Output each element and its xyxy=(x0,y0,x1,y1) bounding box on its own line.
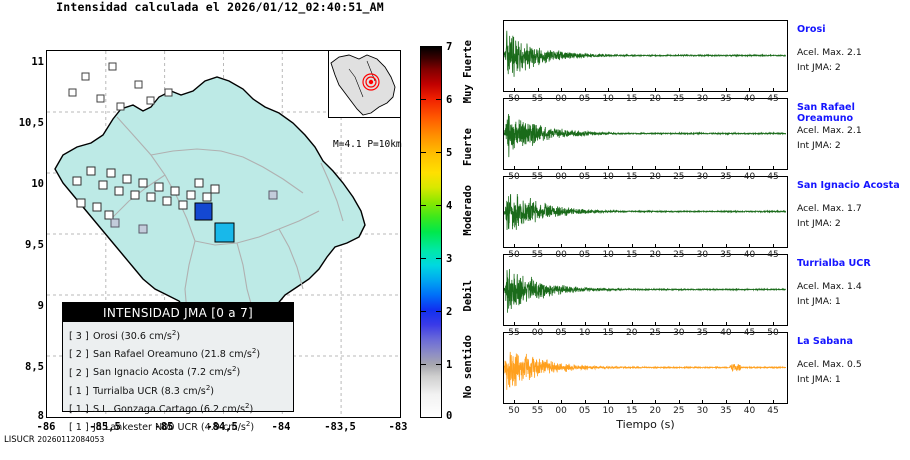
station-accel-la-sabana: Acel. Max. 0.5 xyxy=(797,359,862,370)
station-accel-orosi: Acel. Max. 2.1 xyxy=(797,47,862,58)
time-tick-mark xyxy=(561,322,562,326)
legend-row: [ 2 ]San Rafael Oreamuno (21.8 cm/s2) xyxy=(69,344,293,362)
station-accel-san-rafael-oreamuno: Acel. Max. 2.1 xyxy=(797,125,862,136)
time-tick-label: 00 xyxy=(551,250,571,260)
time-tick-label: 20 xyxy=(645,250,665,260)
time-tick-mark xyxy=(561,166,562,170)
time-tick-mark xyxy=(514,400,515,404)
legend-row: [ 3 ]Orosi (30.6 cm/s2) xyxy=(69,326,293,344)
time-tick-mark xyxy=(632,400,633,404)
time-tick-label: 45 xyxy=(763,406,783,416)
time-tick-label: 35 xyxy=(716,250,736,260)
time-tick-mark xyxy=(632,322,633,326)
time-axis-label: Tiempo (s) xyxy=(503,418,788,431)
time-tick-label: 10 xyxy=(598,172,618,182)
time-tick-mark xyxy=(538,322,539,326)
time-tick-label: 10 xyxy=(598,406,618,416)
time-tick-label: 30 xyxy=(692,94,712,104)
time-tick-label: 10 xyxy=(575,328,595,338)
time-tick-mark xyxy=(726,166,727,170)
time-tick-mark xyxy=(608,400,609,404)
time-tick-label: 45 xyxy=(763,172,783,182)
time-tick-mark xyxy=(538,88,539,92)
time-tick-mark xyxy=(749,88,750,92)
time-tick-label: 25 xyxy=(669,406,689,416)
legend-accel: 30.6 xyxy=(125,331,146,342)
time-tick-label: 00 xyxy=(528,328,548,338)
time-tick-label: 20 xyxy=(645,172,665,182)
legend-station: San Ignacio Acosta xyxy=(93,368,184,379)
time-tick-mark xyxy=(514,88,515,92)
time-tick-mark xyxy=(702,322,703,326)
time-tick-label: 30 xyxy=(692,406,712,416)
time-tick-label: 00 xyxy=(551,406,571,416)
waveform-trace xyxy=(504,177,786,246)
time-tick-mark xyxy=(632,244,633,248)
time-tick-mark xyxy=(702,166,703,170)
time-tick-label: 05 xyxy=(575,172,595,182)
time-tick-label: 50 xyxy=(763,328,783,338)
station-jma-la-sabana: Int JMA: 1 xyxy=(797,374,841,385)
time-tick-mark xyxy=(608,244,609,248)
time-ticks-panel-3: 505500051015202530354045 xyxy=(503,248,788,262)
time-tick-label: 35 xyxy=(692,328,712,338)
station-accel-turrialba-ucr: Acel. Max. 1.4 xyxy=(797,281,862,292)
colorbar-tick-5: 5 xyxy=(446,147,462,159)
footer-agency: LISUCR xyxy=(4,435,35,445)
time-tick-label: 25 xyxy=(645,328,665,338)
seismogram-panel-turrialba-ucr[interactable] xyxy=(503,254,788,326)
time-tick-mark xyxy=(679,322,680,326)
map-ytick-11: 11 xyxy=(6,56,44,68)
legend-station: Turrialba UCR xyxy=(93,386,158,397)
time-tick-mark xyxy=(538,166,539,170)
time-tick-mark xyxy=(632,88,633,92)
map-ytick-10: 10 xyxy=(6,178,44,190)
legend-row: [ 1 ]Jn Lankester N00 UCR (4.9 cm/s2) xyxy=(69,417,293,435)
legend-level: [ 1 ] xyxy=(69,421,93,435)
waveform-trace xyxy=(504,333,786,402)
time-tick-mark xyxy=(655,166,656,170)
colorbar-tick-2: 2 xyxy=(446,306,462,318)
time-tick-mark xyxy=(561,88,562,92)
page-title: Intensidad calculada el 2026/01/12_02:40… xyxy=(0,0,440,14)
time-tick-label: 05 xyxy=(551,328,571,338)
station-marker-strong xyxy=(195,203,212,220)
time-tick-mark xyxy=(749,400,750,404)
time-ticks-panel-5: 505500051015202530354045 xyxy=(503,404,788,418)
time-tick-label: 05 xyxy=(575,406,595,416)
legend-station: S.L. Gonzaga.Cartago xyxy=(93,404,197,415)
time-tick-label: 35 xyxy=(716,406,736,416)
colorbar-tick-6: 6 xyxy=(446,94,462,106)
legend-accel: 8.3 xyxy=(165,386,180,397)
time-tick-mark xyxy=(773,166,774,170)
time-tick-label: 55 xyxy=(528,94,548,104)
time-tick-mark xyxy=(561,244,562,248)
map-ytick-105: 10,5 xyxy=(6,117,44,129)
legend-level: [ 3 ] xyxy=(69,330,93,344)
time-tick-mark xyxy=(702,88,703,92)
time-tick-mark xyxy=(726,244,727,248)
colorbar-label-debil: Debil xyxy=(462,280,474,312)
inset-locator-map[interactable] xyxy=(328,50,401,118)
time-tick-label: 00 xyxy=(551,94,571,104)
seismogram-panel-san-ignacio-acosta[interactable] xyxy=(503,176,788,248)
time-tick-label: 05 xyxy=(575,250,595,260)
time-tick-mark xyxy=(514,166,515,170)
magnitude-depth-label: M=4.1 P=10km xyxy=(333,139,402,150)
seismogram-panel-san-rafael-oreamuno[interactable] xyxy=(503,98,788,170)
colorbar-tick-0: 0 xyxy=(446,410,462,422)
legend-level: [ 2 ] xyxy=(69,348,93,362)
time-tick-mark xyxy=(702,244,703,248)
station-jma-san-rafael-oreamuno: Int JMA: 2 xyxy=(797,140,841,151)
map-ytick-85: 8,5 xyxy=(6,361,44,373)
station-name-san-ignacio-acosta: San Ignacio Acosta xyxy=(797,180,900,191)
footer-credit: LISUCR 20260112084053 xyxy=(4,435,104,445)
legend-accel: 21.8 xyxy=(205,349,226,360)
time-ticks-panel-1: 505500051015202530354045 xyxy=(503,92,788,106)
footer-id: 20260112084053 xyxy=(37,435,104,444)
station-name-orosi: Orosi xyxy=(797,24,825,35)
time-tick-label: 10 xyxy=(598,250,618,260)
legend-accel: 7.2 xyxy=(191,368,206,379)
time-tick-mark xyxy=(632,166,633,170)
time-tick-mark xyxy=(773,400,774,404)
legend-station: Jn Lankester N00 UCR xyxy=(93,422,198,433)
time-tick-mark xyxy=(749,322,750,326)
time-ticks-panel-4: 550005101520253035404550 xyxy=(503,326,788,340)
seismogram-panel-orosi[interactable] xyxy=(503,20,788,92)
colorbar-label-fuerte: Fuerte xyxy=(462,128,474,166)
time-tick-label: 35 xyxy=(716,172,736,182)
time-tick-mark xyxy=(655,322,656,326)
time-tick-label: 40 xyxy=(739,406,759,416)
time-tick-mark xyxy=(773,244,774,248)
time-tick-mark xyxy=(726,88,727,92)
waveform-trace xyxy=(504,99,786,168)
time-tick-mark xyxy=(773,322,774,326)
time-ticks-panel-2: 505500051015202530354045 xyxy=(503,170,788,184)
time-tick-mark xyxy=(538,244,539,248)
time-tick-label: 15 xyxy=(622,94,642,104)
time-tick-mark xyxy=(538,400,539,404)
time-tick-label: 35 xyxy=(716,94,736,104)
time-tick-mark xyxy=(679,244,680,248)
time-tick-mark xyxy=(655,244,656,248)
waveform-trace xyxy=(504,255,786,324)
time-tick-mark xyxy=(749,244,750,248)
time-tick-mark xyxy=(514,244,515,248)
time-tick-mark xyxy=(679,400,680,404)
legend-accel: 4.9 xyxy=(205,422,220,433)
time-tick-mark xyxy=(561,400,562,404)
time-tick-mark xyxy=(726,400,727,404)
time-tick-label: 00 xyxy=(551,172,571,182)
colorbar-tick-1: 1 xyxy=(446,359,462,371)
time-tick-label: 20 xyxy=(622,328,642,338)
time-tick-label: 40 xyxy=(739,172,759,182)
time-tick-mark xyxy=(655,88,656,92)
seismogram-panel-la-sabana[interactable] xyxy=(503,332,788,404)
colorbar-tick-7: 7 xyxy=(446,41,462,53)
time-tick-label: 25 xyxy=(669,172,689,182)
time-tick-mark xyxy=(585,322,586,326)
time-tick-label: 05 xyxy=(575,94,595,104)
time-tick-mark xyxy=(749,166,750,170)
legend-row: [ 1 ]Turrialba UCR (8.3 cm/s2) xyxy=(69,381,293,399)
time-tick-label: 50 xyxy=(504,406,524,416)
time-tick-label: 25 xyxy=(669,250,689,260)
legend-level: [ 2 ] xyxy=(69,367,93,381)
time-tick-mark xyxy=(585,400,586,404)
time-tick-label: 25 xyxy=(669,94,689,104)
time-tick-label: 45 xyxy=(763,250,783,260)
time-tick-label: 15 xyxy=(622,172,642,182)
intensity-legend: INTENSIDAD JMA [0 a 7] [ 3 ]Orosi (30.6 … xyxy=(62,302,294,412)
intensity-colorbar xyxy=(420,46,442,418)
time-tick-label: 30 xyxy=(692,250,712,260)
map-ytick-9: 9 xyxy=(6,300,44,312)
time-tick-label: 20 xyxy=(645,406,665,416)
time-tick-label: 55 xyxy=(528,250,548,260)
map-xtick-835: -83,5 xyxy=(314,421,366,433)
station-name-turrialba-ucr: Turrialba UCR xyxy=(797,258,871,269)
time-tick-label: 30 xyxy=(692,172,712,182)
time-tick-mark xyxy=(773,88,774,92)
time-tick-label: 15 xyxy=(622,406,642,416)
time-tick-mark xyxy=(585,88,586,92)
colorbar-label-muy-fuerte: Muy Fuerte xyxy=(462,40,474,103)
legend-station: Orosi xyxy=(93,331,118,342)
time-tick-label: 30 xyxy=(669,328,689,338)
legend-header: INTENSIDAD JMA [0 a 7] xyxy=(63,303,293,322)
time-tick-mark xyxy=(655,400,656,404)
inset-graphic xyxy=(329,51,400,117)
legend-accel: 6.2 xyxy=(204,404,219,415)
legend-row: [ 1 ]S.L. Gonzaga.Cartago (6.2 cm/s2) xyxy=(69,399,293,417)
station-accel-san-ignacio-acosta: Acel. Max. 1.7 xyxy=(797,203,862,214)
time-tick-mark xyxy=(679,166,680,170)
time-tick-label: 10 xyxy=(598,94,618,104)
time-tick-mark xyxy=(679,88,680,92)
colorbar-tick-3: 3 xyxy=(446,253,462,265)
time-tick-label: 15 xyxy=(598,328,618,338)
legend-station: San Rafael Oreamuno xyxy=(93,349,198,360)
legend-rows: [ 3 ]Orosi (30.6 cm/s2) [ 2 ]San Rafael … xyxy=(63,322,293,435)
colorbar-label-no-sentido: No sentido xyxy=(462,335,474,398)
station-name-la-sabana: La Sabana xyxy=(797,336,853,347)
time-tick-mark xyxy=(608,88,609,92)
map-xtick-83: -83 xyxy=(372,421,424,433)
time-tick-label: 50 xyxy=(504,94,524,104)
time-tick-label: 55 xyxy=(528,172,548,182)
waveform-trace xyxy=(504,21,786,90)
station-jma-turrialba-ucr: Int JMA: 1 xyxy=(797,296,841,307)
station-marker-cyan xyxy=(215,223,234,242)
time-tick-label: 20 xyxy=(645,94,665,104)
time-tick-label: 40 xyxy=(716,328,736,338)
time-tick-mark xyxy=(608,166,609,170)
time-tick-label: 45 xyxy=(739,328,759,338)
time-tick-mark xyxy=(585,244,586,248)
legend-level: [ 1 ] xyxy=(69,403,93,417)
time-tick-mark xyxy=(608,322,609,326)
time-tick-label: 40 xyxy=(739,250,759,260)
station-jma-orosi: Int JMA: 2 xyxy=(797,62,841,73)
time-tick-label: 50 xyxy=(504,250,524,260)
time-tick-label: 50 xyxy=(504,172,524,182)
time-tick-mark xyxy=(514,322,515,326)
time-tick-label: 45 xyxy=(763,94,783,104)
time-tick-mark xyxy=(726,322,727,326)
time-tick-mark xyxy=(585,166,586,170)
colorbar-label-moderado: Moderado xyxy=(462,185,474,236)
station-jma-san-ignacio-acosta: Int JMA: 2 xyxy=(797,218,841,229)
legend-level: [ 1 ] xyxy=(69,385,93,399)
time-tick-label: 55 xyxy=(504,328,524,338)
time-tick-label: 55 xyxy=(528,406,548,416)
station-name-san-rafael-oreamuno: San Rafael Oreamuno xyxy=(797,102,910,124)
colorbar-tick-4: 4 xyxy=(446,200,462,212)
map-ytick-95: 9,5 xyxy=(6,239,44,251)
time-tick-label: 40 xyxy=(739,94,759,104)
legend-row: [ 2 ]San Ignacio Acosta (7.2 cm/s2) xyxy=(69,362,293,380)
time-tick-label: 15 xyxy=(622,250,642,260)
time-tick-mark xyxy=(702,400,703,404)
